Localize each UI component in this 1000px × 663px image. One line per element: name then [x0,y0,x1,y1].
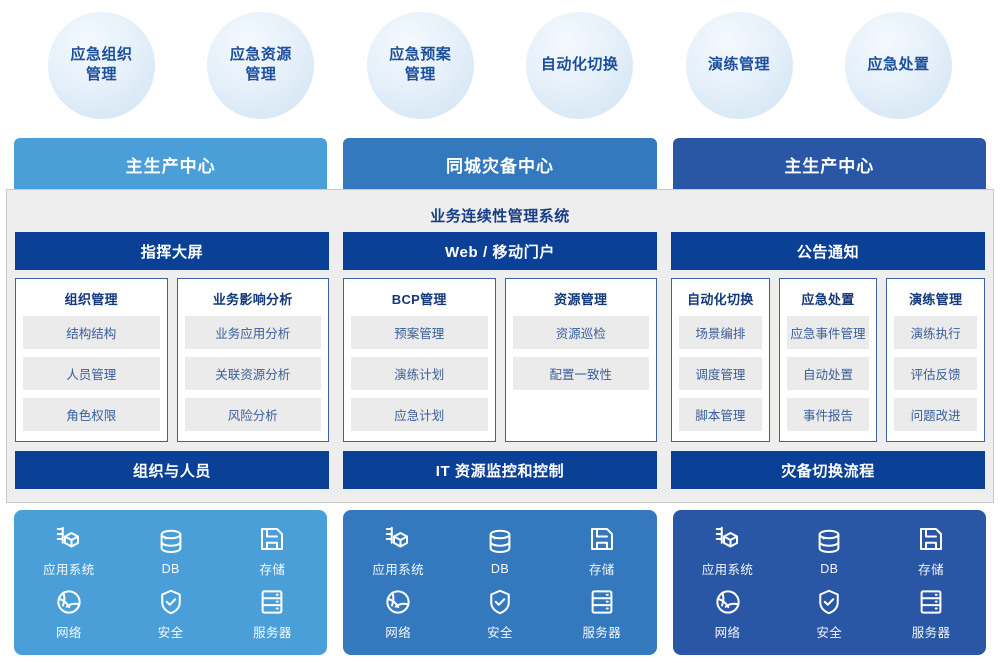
infrastructure-panel-2: 应用系统DB存储网络安全服务器 [673,510,986,655]
infrastructure-item-label: 存储 [589,559,615,578]
module-chip[interactable]: 事件报告 [787,398,870,431]
module-chip[interactable]: 脚本管理 [679,398,762,431]
module-card-title: 资源管理 [513,287,650,316]
capability-circle-2[interactable]: 应急预案管理 [367,12,474,119]
infrastructure-item[interactable]: 网络 [347,587,449,641]
module-group-2: 自动化切换场景编排调度管理脚本管理应急处置应急事件管理自动处置事件报告演练管理演… [671,278,985,442]
infrastructure-item-label: 网络 [385,622,411,641]
module-card-title: 自动化切换 [679,287,762,316]
data-center-header-0[interactable]: 主生产中心 [14,138,327,190]
infrastructure-item[interactable]: DB [120,527,222,576]
data-center-header-label: 主生产中心 [784,152,874,177]
infrastructure-item-label: 安全 [487,622,513,641]
top-bar-row: 指挥大屏Web / 移动门户公告通知 [15,232,985,270]
capability-circle-row: 应急组织管理应急资源管理应急预案管理自动化切换演练管理应急处置 [0,0,1000,130]
bar-label: 灾备切换流程 [781,460,875,481]
module-card-title: 组织管理 [23,287,160,316]
capability-circle-3[interactable]: 自动化切换 [526,12,633,119]
module-card-title: 应急处置 [787,287,870,316]
database-icon [814,527,844,557]
infrastructure-item[interactable]: 安全 [449,587,551,641]
capability-circle-1[interactable]: 应急资源管理 [207,12,314,119]
network-icon [54,587,84,617]
bar-label: IT 资源监控和控制 [436,460,565,481]
server-icon [916,587,946,617]
storage-icon [257,524,287,554]
module-chip[interactable]: 关联资源分析 [185,357,322,390]
capability-circle-label: 应急预案管理 [389,45,451,86]
bar-label: 组织与人员 [133,460,211,481]
panel-title: 业务连续性管理系统 [15,198,985,232]
module-card[interactable]: BCP管理预案管理演练计划应急计划 [343,278,496,442]
security-shield-icon [485,587,515,617]
module-chip[interactable]: 场景编排 [679,316,762,349]
capability-circle-label: 应急处置 [867,55,929,75]
module-chip[interactable]: 资源巡检 [513,316,650,349]
capability-circle-label: 自动化切换 [541,55,619,75]
capability-circle-0[interactable]: 应急组织管理 [48,12,155,119]
server-icon [257,587,287,617]
bottom-bars-0[interactable]: 组织与人员 [15,451,329,489]
infrastructure-item-label: 应用系统 [702,559,754,578]
module-card-title: 业务影响分析 [185,287,322,316]
top-bars-2[interactable]: 公告通知 [671,232,985,270]
module-chip[interactable]: 应急计划 [351,398,488,431]
infrastructure-item-label: 存储 [260,559,286,578]
infrastructure-panel-1: 应用系统DB存储网络安全服务器 [343,510,656,655]
infrastructure-item-label: 网络 [56,622,82,641]
bar-label: 指挥大屏 [141,241,203,262]
module-group-0: 组织管理结构结构人员管理角色权限业务影响分析业务应用分析关联资源分析风险分析 [15,278,329,442]
app-system-icon [54,524,84,554]
capability-circle-5[interactable]: 应急处置 [845,12,952,119]
module-group-1: BCP管理预案管理演练计划应急计划资源管理资源巡检配置一致性 [343,278,657,442]
infrastructure-item[interactable]: 网络 [677,587,779,641]
infrastructure-item[interactable]: 安全 [120,587,222,641]
data-center-header-label: 主生产中心 [126,152,216,177]
infrastructure-item[interactable]: 应用系统 [347,524,449,578]
module-chip[interactable]: 调度管理 [679,357,762,390]
bottom-bars-1[interactable]: IT 资源监控和控制 [343,451,657,489]
module-chip[interactable]: 人员管理 [23,357,160,390]
database-icon [156,527,186,557]
data-center-header-1[interactable]: 同城灾备中心 [343,138,656,190]
module-chip[interactable]: 演练计划 [351,357,488,390]
module-chip[interactable]: 预案管理 [351,316,488,349]
module-card-title: BCP管理 [351,287,488,316]
module-card[interactable]: 应急处置应急事件管理自动处置事件报告 [779,278,878,442]
bar-label: 公告通知 [797,241,859,262]
module-card[interactable]: 组织管理结构结构人员管理角色权限 [15,278,168,442]
infrastructure-item-label: 服务器 [253,622,292,641]
bcm-system-panel: 业务连续性管理系统 指挥大屏Web / 移动门户公告通知 组织管理结构结构人员管… [6,189,994,503]
security-shield-icon [814,587,844,617]
infrastructure-item-label: 应用系统 [43,559,95,578]
app-system-icon [383,524,413,554]
infrastructure-item-label: 网络 [715,622,741,641]
module-card-grid: 组织管理结构结构人员管理角色权限业务影响分析业务应用分析关联资源分析风险分析BC… [15,278,985,442]
infrastructure-item[interactable]: 服务器 [880,587,982,641]
module-chip[interactable]: 业务应用分析 [185,316,322,349]
capability-circle-label: 应急组织管理 [70,45,132,86]
infrastructure-item[interactable]: 存储 [880,524,982,578]
infrastructure-item[interactable]: 应用系统 [18,524,120,578]
infrastructure-panel-0: 应用系统DB存储网络安全服务器 [14,510,327,655]
module-chip[interactable]: 评估反馈 [894,357,977,390]
module-card-title: 演练管理 [894,287,977,316]
infrastructure-item-label: 服务器 [582,622,621,641]
network-icon [713,587,743,617]
top-bars-1[interactable]: Web / 移动门户 [343,232,657,270]
storage-icon [587,524,617,554]
data-center-header-row: 主生产中心同城灾备中心主生产中心 [0,138,1000,190]
module-chip[interactable]: 演练执行 [894,316,977,349]
network-icon [383,587,413,617]
database-icon [485,527,515,557]
infrastructure-row: 应用系统DB存储网络安全服务器应用系统DB存储网络安全服务器应用系统DB存储网络… [14,510,986,655]
infrastructure-item-label: 应用系统 [372,559,424,578]
module-chip[interactable]: 结构结构 [23,316,160,349]
infrastructure-item-label: 服务器 [912,622,951,641]
data-center-header-2[interactable]: 主生产中心 [673,138,986,190]
infrastructure-item[interactable]: 安全 [778,587,880,641]
app-system-icon [713,524,743,554]
security-shield-icon [156,587,186,617]
module-chip[interactable]: 自动处置 [787,357,870,390]
top-bars-0[interactable]: 指挥大屏 [15,232,329,270]
infrastructure-item[interactable]: 服务器 [551,587,653,641]
infrastructure-item[interactable]: 存储 [222,524,324,578]
bottom-bars-2[interactable]: 灾备切换流程 [671,451,985,489]
module-chip[interactable]: 配置一致性 [513,357,650,390]
infrastructure-item-label: DB [491,562,509,576]
storage-icon [916,524,946,554]
module-card[interactable]: 业务影响分析业务应用分析关联资源分析风险分析 [177,278,330,442]
infrastructure-item-label: 安全 [158,622,184,641]
data-center-header-label: 同城灾备中心 [446,152,554,177]
bcm-architecture-diagram: 应急组织管理应急资源管理应急预案管理自动化切换演练管理应急处置 主生产中心同城灾… [0,0,1000,663]
capability-circle-label: 应急资源管理 [230,45,292,86]
infrastructure-item[interactable]: 存储 [551,524,653,578]
bar-label: Web / 移动门户 [445,241,555,262]
infrastructure-item-label: DB [162,562,180,576]
module-chip[interactable]: 应急事件管理 [787,316,870,349]
module-card[interactable]: 自动化切换场景编排调度管理脚本管理 [671,278,770,442]
infrastructure-item-label: 存储 [918,559,944,578]
server-icon [587,587,617,617]
infrastructure-item-label: 安全 [816,622,842,641]
infrastructure-item-label: DB [820,562,838,576]
module-card[interactable]: 资源管理资源巡检配置一致性 [505,278,658,442]
module-chip[interactable]: 问题改进 [894,398,977,431]
capability-circle-4[interactable]: 演练管理 [686,12,793,119]
infrastructure-item[interactable]: 网络 [18,587,120,641]
bottom-bar-row: 组织与人员IT 资源监控和控制灾备切换流程 [15,451,985,489]
module-chip[interactable]: 角色权限 [23,398,160,431]
infrastructure-item[interactable]: DB [449,527,551,576]
infrastructure-item[interactable]: 服务器 [222,587,324,641]
infrastructure-item[interactable]: DB [778,527,880,576]
capability-circle-label: 演练管理 [708,55,770,75]
infrastructure-item[interactable]: 应用系统 [677,524,779,578]
module-card[interactable]: 演练管理演练执行评估反馈问题改进 [886,278,985,442]
module-chip[interactable]: 风险分析 [185,398,322,431]
